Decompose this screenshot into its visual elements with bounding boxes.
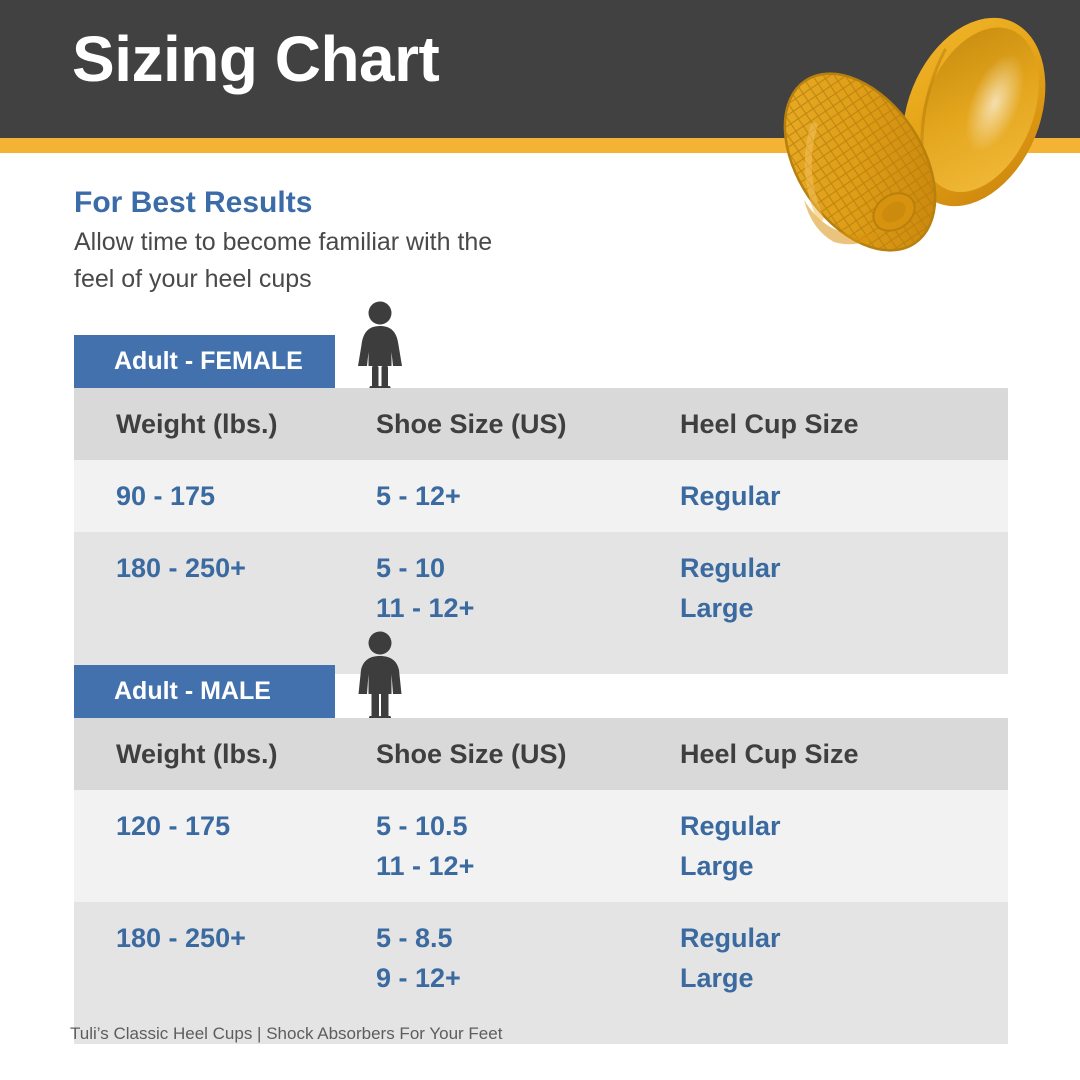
cell-shoe-size: 5 - 12+ [376,476,680,516]
accent-stripe [0,138,1080,153]
table-row: 90 - 175 5 - 12+ Regular [74,460,1008,532]
column-header-shoe-size: Shoe Size (US) [376,739,680,770]
column-header-heel-cup-size: Heel Cup Size [680,409,1008,440]
cell-heel-cup-size: Regular [680,476,1008,516]
cell-weight: 180 - 250+ [74,918,376,998]
intro-line-1: Allow time to become familiar with the [74,228,492,257]
column-header-heel-cup-size: Heel Cup Size [680,739,1008,770]
footer-note: Tuli’s Classic Heel Cups | Shock Absorbe… [70,1024,502,1044]
cell-weight: 120 - 175 [74,806,376,886]
table-header-row-female: Weight (lbs.) Shoe Size (US) Heel Cup Si… [74,388,1008,460]
cell-heel-cup-size: Regular Large [680,806,1008,886]
female-silhouette-icon [352,300,408,390]
cell-weight: 180 - 250+ [74,548,376,628]
intro-heading: For Best Results [74,186,312,220]
cell-heel-cup-size: Regular Large [680,548,1008,628]
cell-weight: 90 - 175 [74,476,376,516]
cell-shoe-size: 5 - 8.5 9 - 12+ [376,918,680,998]
page-title: Sizing Chart [72,26,439,93]
column-header-weight: Weight (lbs.) [74,739,376,770]
sizing-table-female: Adult - FEMALE Weight (lbs.) Shoe Size (… [74,335,1008,674]
table-header-row-male: Weight (lbs.) Shoe Size (US) Heel Cup Si… [74,718,1008,790]
intro-line-2: feel of your heel cups [74,265,312,294]
group-band-female: Adult - FEMALE [74,335,335,388]
cell-heel-cup-size: Regular Large [680,918,1008,998]
sizing-table-male: Adult - MALE Weight (lbs.) Shoe Size (US… [74,665,1008,1044]
table-row: 180 - 250+ 5 - 10 11 - 12+ Regular Large [74,532,1008,674]
group-band-label-female: Adult - FEMALE [114,335,303,388]
column-header-shoe-size: Shoe Size (US) [376,409,680,440]
male-silhouette-icon [352,630,408,720]
column-header-weight: Weight (lbs.) [74,409,376,440]
group-band-male: Adult - MALE [74,665,335,718]
group-band-label-male: Adult - MALE [114,665,271,718]
cell-shoe-size: 5 - 10.5 11 - 12+ [376,806,680,886]
table-row: 180 - 250+ 5 - 8.5 9 - 12+ Regular Large [74,902,1008,1044]
table-row: 120 - 175 5 - 10.5 11 - 12+ Regular Larg… [74,790,1008,902]
cell-shoe-size: 5 - 10 11 - 12+ [376,548,680,628]
